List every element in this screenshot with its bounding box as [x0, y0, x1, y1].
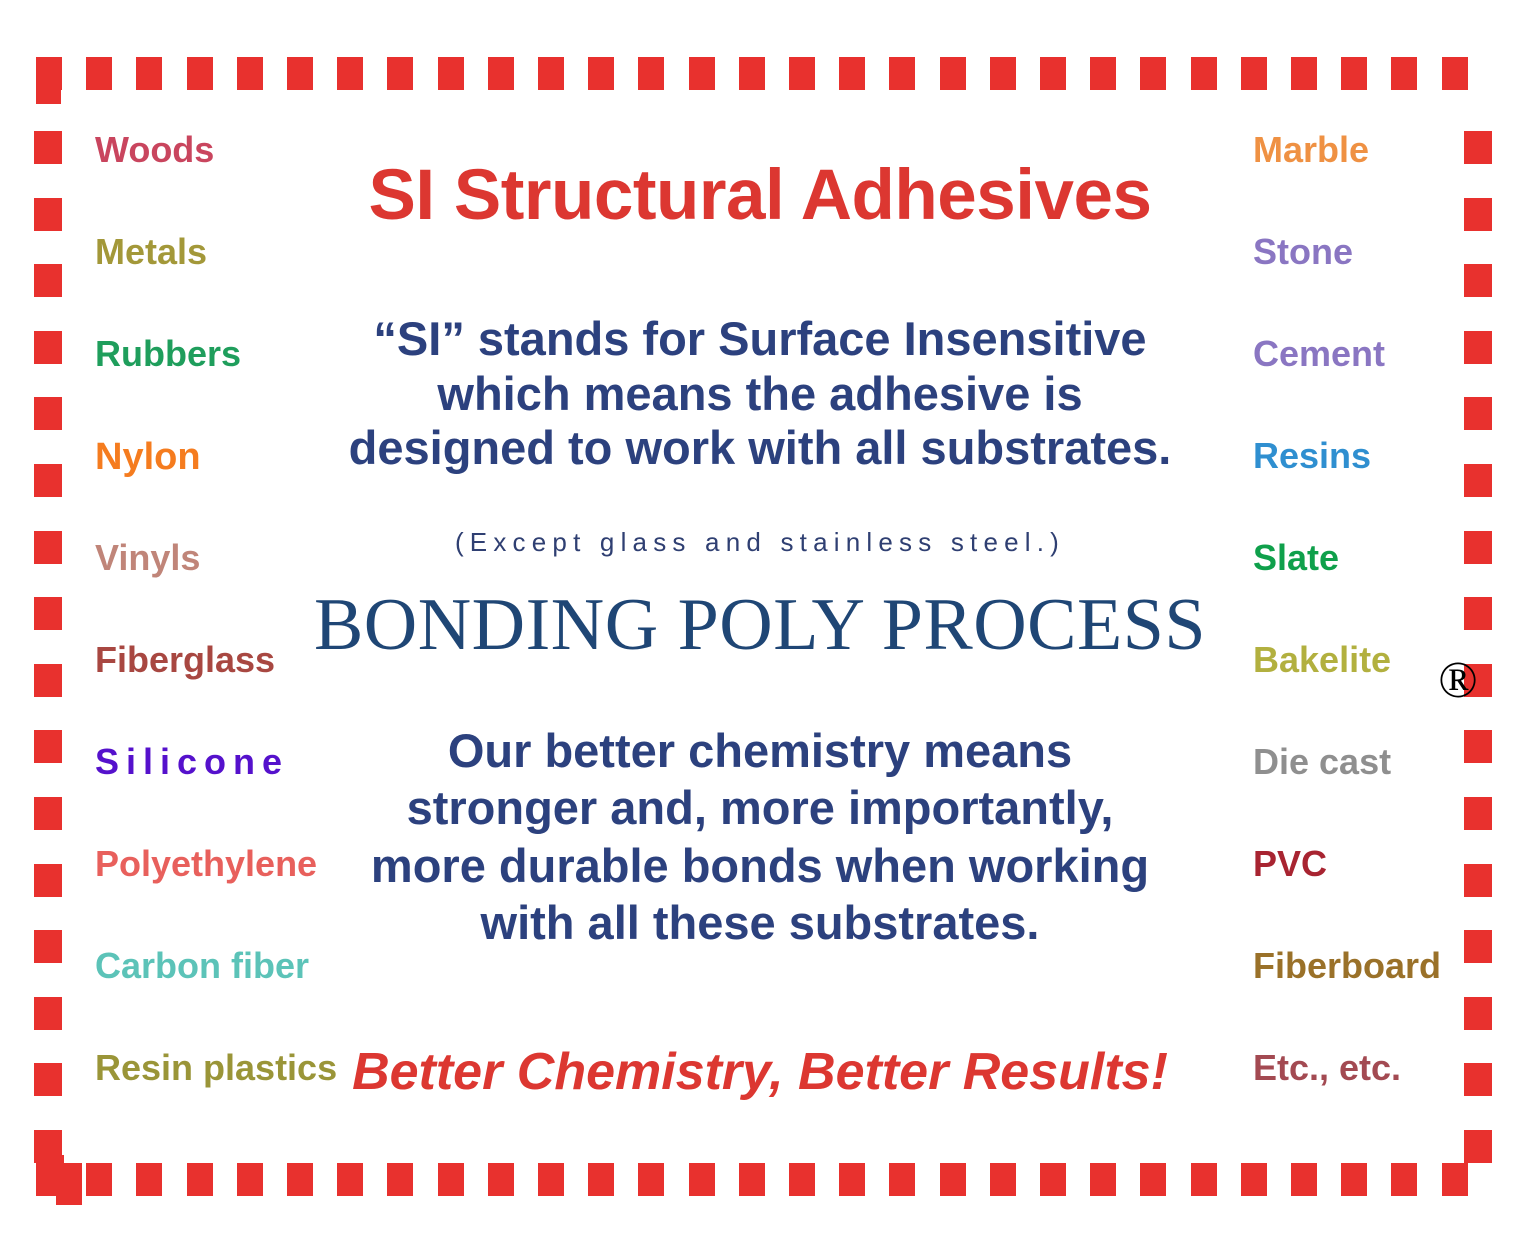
paragraph-line: “SI” stands for Surface Insensitive — [290, 312, 1230, 367]
border-corner-bottom-left-foot — [56, 1163, 82, 1205]
border-dash-top — [1140, 57, 1166, 90]
border-dash-bottom — [588, 1163, 614, 1196]
border-dash-left — [34, 864, 62, 897]
border-dash-left — [34, 397, 62, 430]
substrate-label: PVC — [1253, 846, 1520, 948]
border-dash-top — [1191, 57, 1217, 90]
border-dash-top — [337, 57, 363, 90]
border-dash-top — [488, 57, 514, 90]
border-dash-left — [34, 997, 62, 1030]
border-dash-bottom — [1040, 1163, 1066, 1196]
poster-headline: SI Structural Adhesives — [280, 160, 1240, 231]
border-dash-bottom — [187, 1163, 213, 1196]
substrate-label: Marble — [1253, 132, 1520, 234]
border-dash-bottom — [789, 1163, 815, 1196]
border-dash-top — [839, 57, 865, 90]
substrate-label: Die cast — [1253, 744, 1520, 846]
border-dash-bottom — [1241, 1163, 1267, 1196]
paragraph-line: designed to work with all substrates. — [290, 421, 1230, 476]
border-dash-bottom — [638, 1163, 664, 1196]
border-dash-top — [438, 57, 464, 90]
border-dash-top — [940, 57, 966, 90]
border-dash-bottom — [1291, 1163, 1317, 1196]
border-dash-bottom — [940, 1163, 966, 1196]
poster-paragraph-definition: “SI” stands for Surface Insensitivewhich… — [290, 312, 1230, 476]
border-dash-left — [34, 1063, 62, 1096]
border-dash-top — [287, 57, 313, 90]
substrate-label: Etc., etc. — [1253, 1050, 1520, 1152]
border-dash-left — [34, 131, 62, 164]
substrate-label: Resins — [1253, 438, 1520, 540]
border-dash-bottom — [1140, 1163, 1166, 1196]
border-dash-left — [34, 331, 62, 364]
border-dash-top — [237, 57, 263, 90]
substrate-label: Cement — [1253, 336, 1520, 438]
border-dash-left — [34, 464, 62, 497]
paragraph-line: Our better chemistry means — [290, 722, 1230, 779]
border-dash-top — [689, 57, 715, 90]
substrate-label: Stone — [1253, 234, 1520, 336]
paragraph-line: with all these substrates. — [290, 894, 1230, 951]
border-dash-bottom — [1341, 1163, 1367, 1196]
border-dash-bottom — [136, 1163, 162, 1196]
border-dash-top — [538, 57, 564, 90]
border-dash-left — [34, 264, 62, 297]
poster-exception-note: (Except glass and stainless steel.) — [290, 527, 1230, 558]
border-dash-left — [34, 730, 62, 763]
border-dash-top — [1442, 57, 1468, 90]
border-dash-top — [1341, 57, 1367, 90]
border-dash-top — [889, 57, 915, 90]
border-dash-top — [739, 57, 765, 90]
border-dash-left — [34, 531, 62, 564]
border-dash-top — [990, 57, 1016, 90]
border-dash-bottom — [739, 1163, 765, 1196]
border-dash-top — [789, 57, 815, 90]
border-dash-left — [34, 198, 62, 231]
paragraph-line: which means the adhesive is — [290, 367, 1230, 422]
poster-canvas: WoodsMetalsRubbersNylonVinylsFiberglassS… — [0, 0, 1520, 1254]
border-dash-left — [34, 1130, 62, 1163]
border-dash-bottom — [387, 1163, 413, 1196]
border-dash-top — [638, 57, 664, 90]
border-dash-bottom — [889, 1163, 915, 1196]
paragraph-line: more durable bonds when working — [290, 837, 1230, 894]
border-corner-top-left — [36, 57, 61, 104]
border-dash-top — [1241, 57, 1267, 90]
border-dash-bottom — [1391, 1163, 1417, 1196]
border-dash-top — [86, 57, 112, 90]
brand-name-text: BONDING POLY PROCESS — [314, 584, 1206, 666]
border-dash-bottom — [86, 1163, 112, 1196]
border-dash-bottom — [1442, 1163, 1468, 1196]
registered-trademark-icon: ® — [1435, 658, 1481, 704]
border-dash-left — [34, 797, 62, 830]
border-dash-top — [1391, 57, 1417, 90]
border-dash-left — [34, 930, 62, 963]
border-dash-bottom — [538, 1163, 564, 1196]
border-dash-left — [34, 664, 62, 697]
substrate-list-right: MarbleStoneCementResinsSlateBakeliteDie … — [1253, 132, 1520, 1152]
border-dash-top — [1291, 57, 1317, 90]
border-dash-bottom — [1191, 1163, 1217, 1196]
border-dash-top — [588, 57, 614, 90]
border-dash-bottom — [488, 1163, 514, 1196]
poster-paragraph-benefits: Our better chemistry meansstronger and, … — [290, 722, 1230, 951]
border-dash-top — [1040, 57, 1066, 90]
border-dash-bottom — [287, 1163, 313, 1196]
border-dash-top — [1090, 57, 1116, 90]
border-dash-bottom — [839, 1163, 865, 1196]
border-dash-left — [34, 597, 62, 630]
border-dash-top — [387, 57, 413, 90]
poster-tagline: Better Chemistry, Better Results! — [290, 1046, 1230, 1098]
substrate-label: Slate — [1253, 540, 1520, 642]
substrate-label: Carbon fiber — [95, 948, 395, 1050]
border-dash-bottom — [990, 1163, 1016, 1196]
border-dash-top — [187, 57, 213, 90]
brand-logo: BONDING POLY PROCESS — [280, 588, 1240, 662]
substrate-label: Fiberboard — [1253, 948, 1520, 1050]
border-dash-top — [136, 57, 162, 90]
border-dash-bottom — [237, 1163, 263, 1196]
border-dash-bottom — [689, 1163, 715, 1196]
border-dash-bottom — [337, 1163, 363, 1196]
border-dash-bottom — [1090, 1163, 1116, 1196]
paragraph-line: stronger and, more importantly, — [290, 779, 1230, 836]
border-dash-bottom — [438, 1163, 464, 1196]
